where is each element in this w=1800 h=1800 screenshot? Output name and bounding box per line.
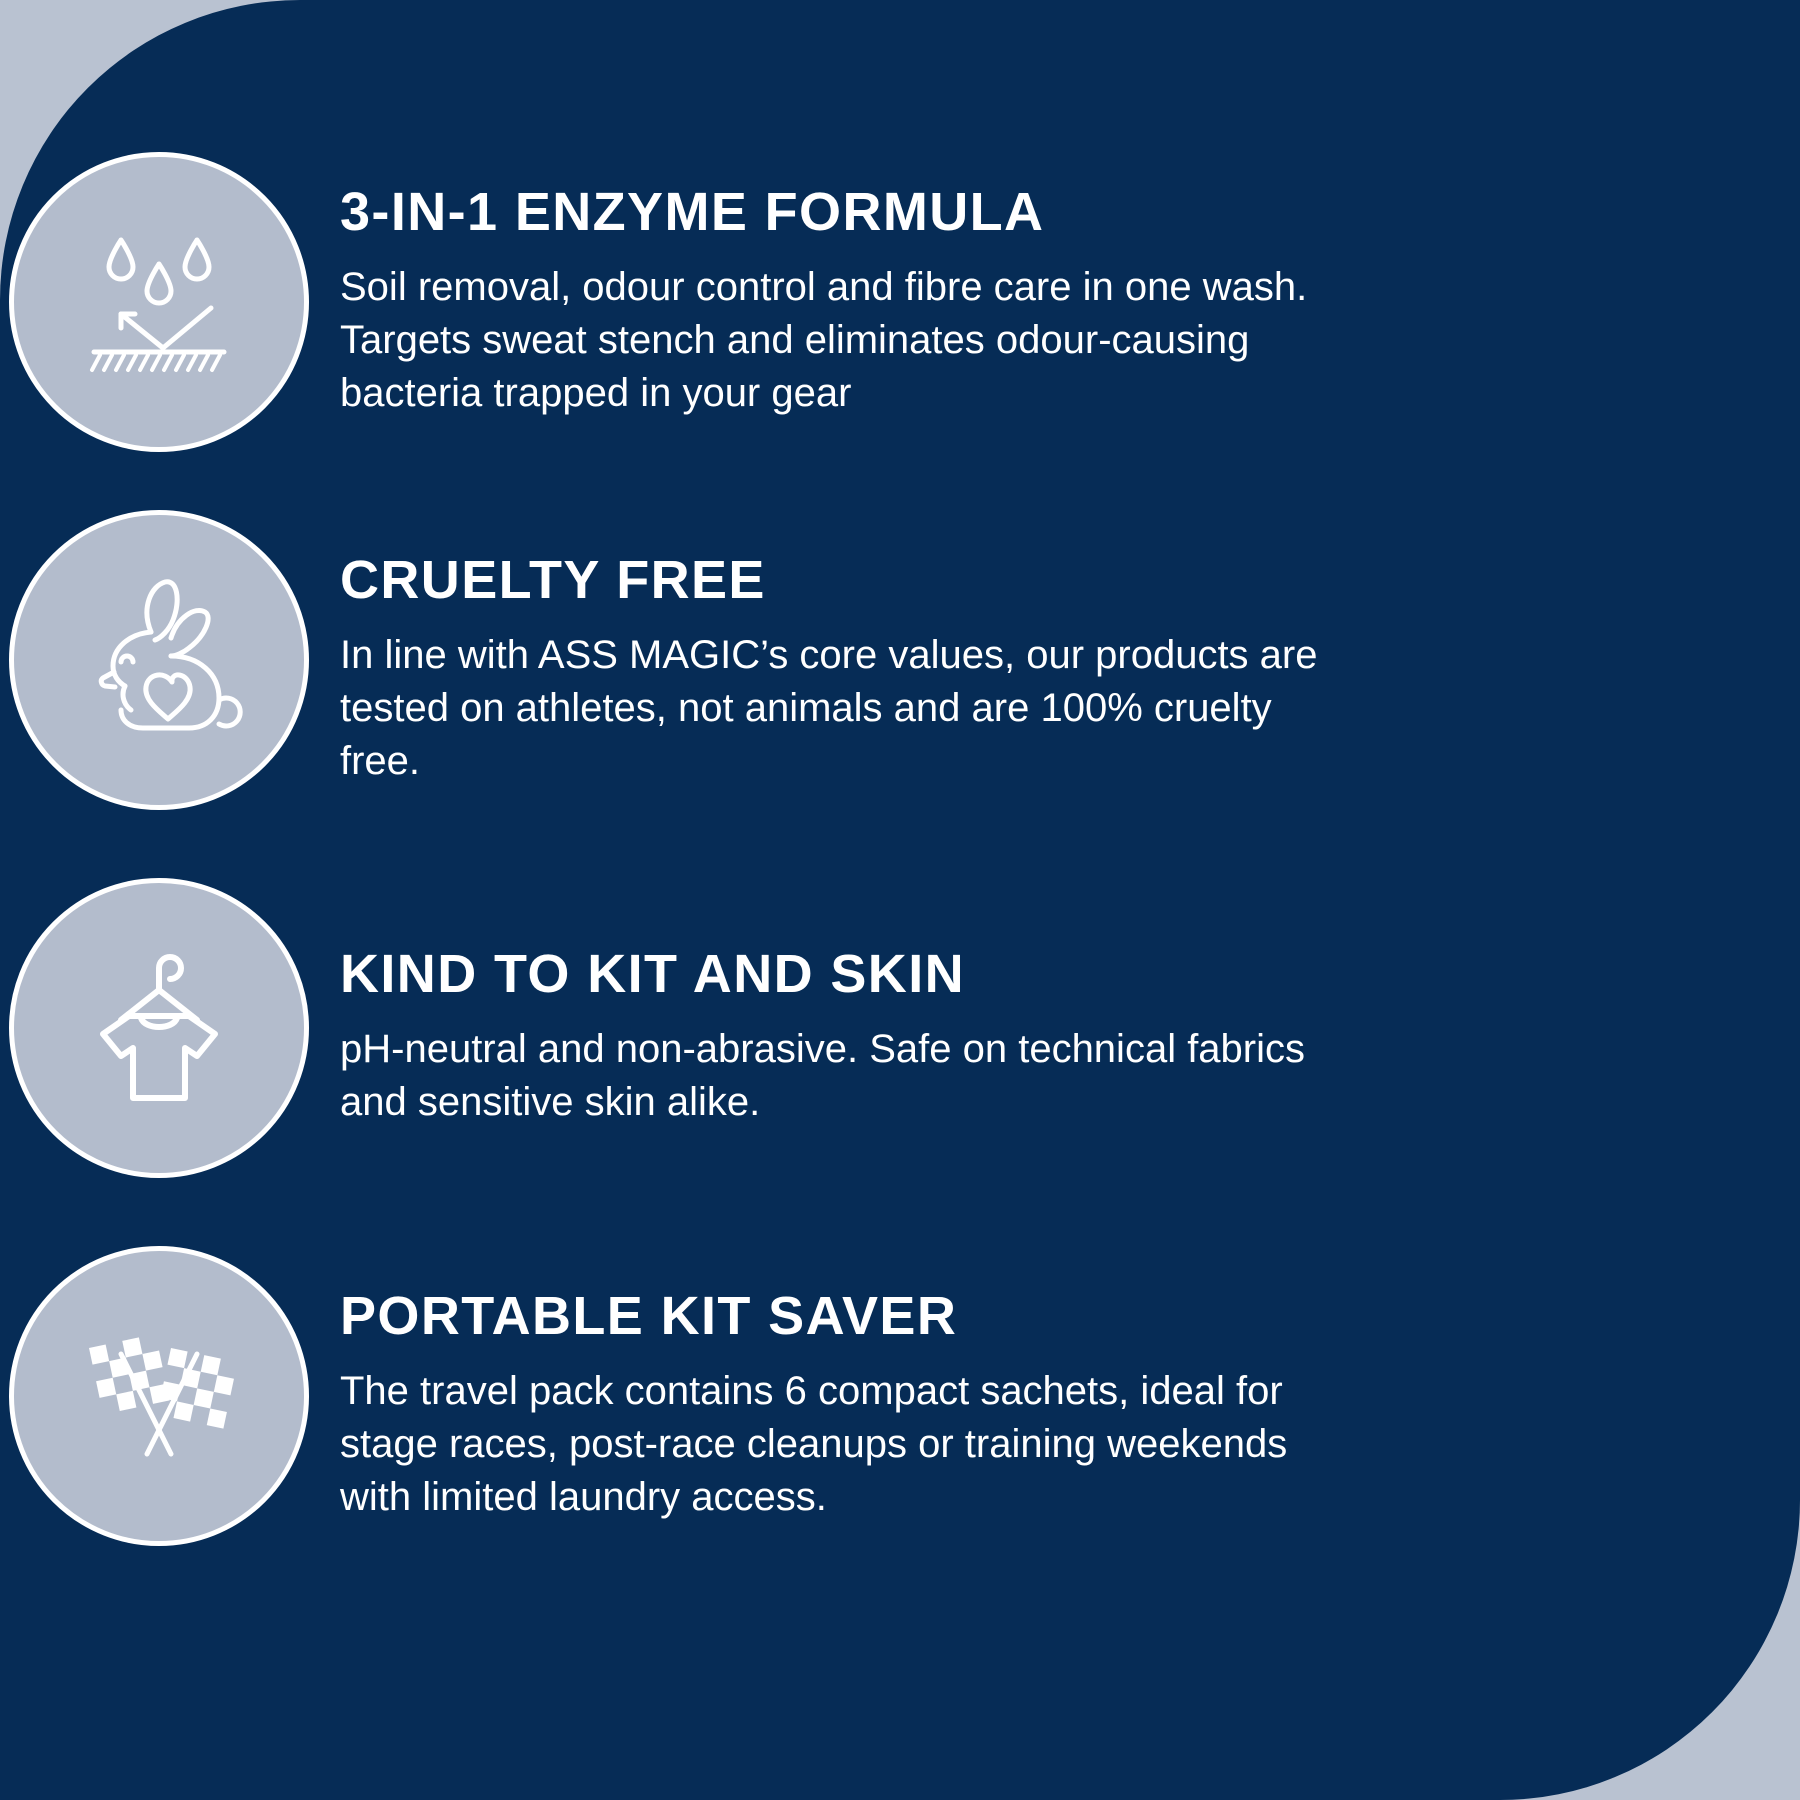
icon-circle: [9, 510, 309, 810]
feature-title: PORTABLE KIT SAVER: [340, 1288, 1740, 1345]
feature-body: Soil removal, odour control and fibre ca…: [340, 261, 1340, 421]
water-repellent-fabric-icon: [59, 202, 259, 402]
checkered-flags-icon: [59, 1296, 259, 1496]
icon-circle: [9, 1246, 309, 1546]
feature-title: KIND TO KIT AND SKIN: [340, 946, 1740, 1003]
feature-body: pH-neutral and non-abrasive. Safe on tec…: [340, 1023, 1340, 1129]
icon-wrap: [0, 878, 318, 1178]
icon-circle: [9, 152, 309, 452]
feature-title: CRUELTY FREE: [340, 552, 1740, 609]
feature-row: PORTABLE KIT SAVER The travel pack conta…: [0, 1246, 1800, 1556]
icon-wrap: [0, 1246, 318, 1546]
feature-row: KIND TO KIT AND SKIN pH-neutral and non-…: [0, 878, 1800, 1188]
rabbit-heart-icon: [59, 560, 259, 760]
infographic-canvas: 3-IN-1 ENZYME FORMULA Soil removal, odou…: [0, 0, 1800, 1800]
icon-wrap: [0, 152, 318, 452]
feature-text: PORTABLE KIT SAVER The travel pack conta…: [318, 1246, 1800, 1556]
feature-body: In line with ASS MAGIC’s core values, ou…: [340, 629, 1340, 789]
feature-row: CRUELTY FREE In line with ASS MAGIC’s co…: [0, 510, 1800, 820]
icon-circle: [9, 878, 309, 1178]
feature-text: 3-IN-1 ENZYME FORMULA Soil removal, odou…: [318, 152, 1800, 452]
feature-list: 3-IN-1 ENZYME FORMULA Soil removal, odou…: [0, 0, 1800, 1800]
feature-row: 3-IN-1 ENZYME FORMULA Soil removal, odou…: [0, 152, 1800, 452]
feature-text: CRUELTY FREE In line with ASS MAGIC’s co…: [318, 510, 1800, 820]
feature-text: KIND TO KIT AND SKIN pH-neutral and non-…: [318, 878, 1800, 1188]
feature-title: 3-IN-1 ENZYME FORMULA: [340, 184, 1740, 241]
icon-wrap: [0, 510, 318, 810]
tshirt-hanger-icon: [59, 928, 259, 1128]
feature-body: The travel pack contains 6 compact sache…: [340, 1365, 1340, 1525]
